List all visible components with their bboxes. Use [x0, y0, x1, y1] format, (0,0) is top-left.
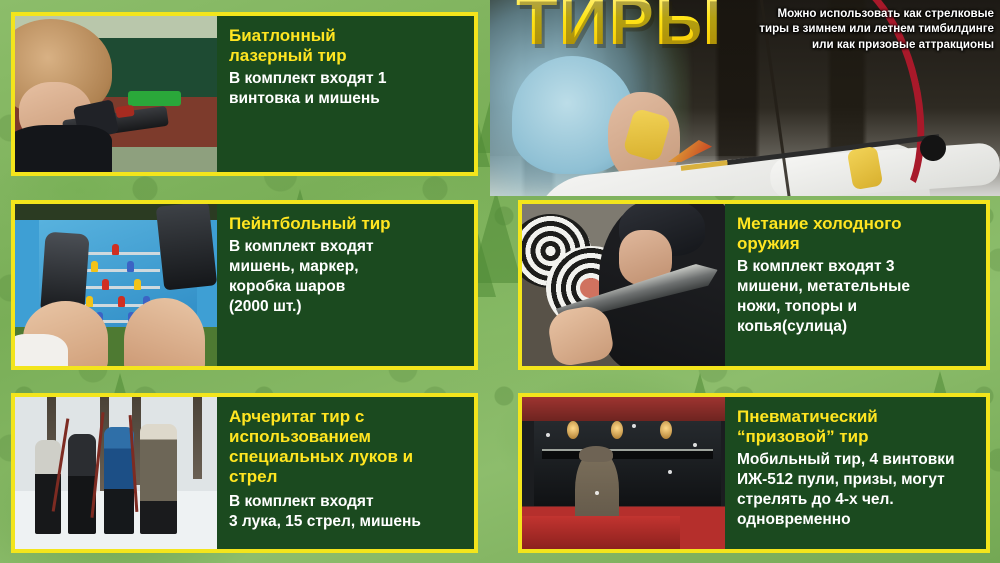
snow-fleck: [693, 443, 697, 447]
card-title: Пневматический “призовой” тир: [737, 407, 978, 447]
card-title: Биатлонный лазерный тир: [229, 26, 466, 66]
card-description: В комплект входят 1 винтовка и мишень: [229, 69, 466, 109]
card-description: В комплект входят мишень, маркер, коробк…: [229, 237, 466, 316]
header-subtitle: Можно использовать как стрелковые тиры в…: [756, 6, 994, 52]
page-title: ТИРЫ: [516, 0, 722, 57]
player-shirt: [15, 334, 68, 366]
card-text-knife-throwing: Метание холодного оружия В комплект вход…: [725, 204, 986, 366]
card-paintball[interactable]: Пейнтбольный тир В комплект входят мишен…: [11, 200, 478, 370]
card-text-paintball: Пейнтбольный тир В комплект входят мишен…: [217, 204, 474, 366]
booth-red-counter: [522, 516, 680, 549]
card-description: Мобильный тир, 4 винтовки ИЖ-512 пули, п…: [737, 450, 978, 529]
booth-shelf: [542, 449, 713, 460]
photo-archery-tag: [15, 397, 217, 549]
card-description: В комплект входят 3 мишени, метательные …: [737, 257, 978, 336]
card-title: Пейнтбольный тир: [229, 214, 466, 234]
archer-person: [140, 424, 176, 533]
slide-root: ТИРЫ Можно использовать как стрелковые т…: [0, 0, 1000, 563]
archer-person: [68, 434, 96, 534]
photo-knife-throwing: [522, 204, 725, 366]
booth-awning: [522, 397, 725, 421]
paintball-marker-right: [156, 204, 217, 291]
card-archery-tag[interactable]: Арчеритаг тир с использованием специальн…: [11, 393, 478, 553]
card-knife-throwing[interactable]: Метание холодного оружия В комплект вход…: [518, 200, 990, 370]
card-text-pneumatic-prize: Пневматический “призовой” тир Мобильный …: [725, 397, 986, 549]
photo-biathlon-laser-range: [15, 16, 217, 172]
card-title: Арчеритаг тир с использованием специальн…: [229, 407, 466, 487]
boy-shoulder: [15, 125, 112, 172]
card-text-archery-tag: Арчеритаг тир с использованием специальн…: [217, 397, 474, 549]
card-pneumatic-prize[interactable]: Пневматический “призовой” тир Мобильный …: [518, 393, 990, 553]
card-title: Метание холодного оружия: [737, 214, 978, 254]
photo-pneumatic-prize-range: [522, 397, 725, 549]
photo-paintball-range: [15, 204, 217, 366]
card-biathlon[interactable]: Биатлонный лазерный тир В комплект входя…: [11, 12, 478, 176]
tree-trunk: [193, 397, 202, 479]
card-text-biathlon: Биатлонный лазерный тир В комплект входя…: [217, 16, 474, 172]
booth-lamp: [567, 421, 579, 439]
green-target-plate: [128, 91, 181, 107]
card-description: В комплект входят 3 лука, 15 стрел, мише…: [229, 492, 466, 532]
booth-body: [534, 421, 721, 506]
visitor-hat: [579, 446, 614, 463]
